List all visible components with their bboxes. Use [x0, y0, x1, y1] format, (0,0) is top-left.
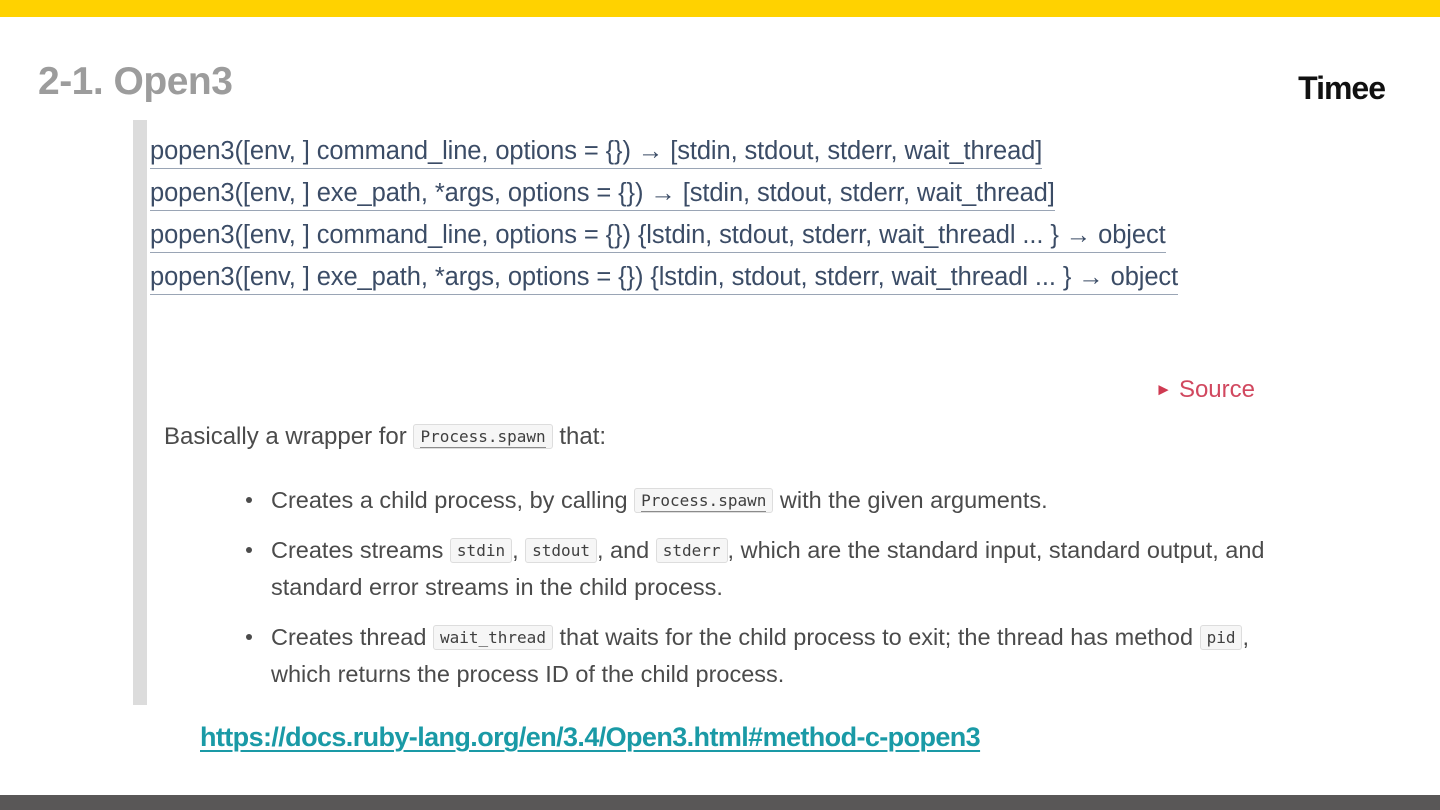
- source-toggle-label: Source: [1179, 376, 1255, 403]
- slide-top-accent-bar: [0, 0, 1440, 17]
- method-signature-text: popen3([env, ] exe_path, *args, options …: [150, 179, 1055, 211]
- doc-left-gutter: [133, 120, 147, 705]
- wrapper-description-before: Basically a wrapper for: [164, 423, 407, 450]
- doc-content: popen3([env, ] command_line, options = {…: [150, 120, 1283, 705]
- method-signature-text: popen3([env, ] command_line, options = {…: [150, 221, 1166, 253]
- bullet-dot-icon: [246, 497, 252, 503]
- embedded-doc-screenshot: popen3([env, ] command_line, options = {…: [133, 120, 1283, 705]
- bullet-dot-icon: [246, 547, 252, 553]
- list-item-text: with the given arguments.: [773, 487, 1047, 513]
- code-chip-process-spawn[interactable]: Process.spawn: [634, 488, 773, 513]
- list-item: Creates thread wait_thread that waits fo…: [164, 619, 1274, 693]
- code-chip-process-spawn[interactable]: Process.spawn: [413, 424, 552, 449]
- method-signature-text: popen3([env, ] exe_path, *args, options …: [150, 263, 1178, 295]
- method-signature-text: popen3([env, ] command_line, options = {…: [150, 137, 1042, 169]
- method-signature[interactable]: popen3([env, ] command_line, options = {…: [150, 214, 1270, 256]
- code-chip-label: Process.spawn: [420, 427, 545, 448]
- list-item-text: Creates streams: [271, 537, 450, 563]
- list-item-text: that waits for the child process to exit…: [553, 624, 1200, 650]
- behaviour-list: Creates a child process, by calling Proc…: [164, 482, 1274, 693]
- list-item-text: Creates thread: [271, 624, 433, 650]
- list-item-text: , and: [597, 537, 656, 563]
- list-item-text: ,: [512, 537, 525, 563]
- wrapper-description: Basically a wrapper for Process.spawn th…: [164, 420, 1274, 454]
- wrapper-description-after: that:: [559, 423, 606, 450]
- bullet-dot-icon: [246, 634, 252, 640]
- code-chip-stdin: stdin: [450, 538, 512, 563]
- play-triangle-icon: ►: [1155, 380, 1172, 399]
- code-chip-stderr: stderr: [656, 538, 728, 563]
- list-item-text: Creates a child process, by calling: [271, 487, 634, 513]
- code-chip-wait-thread: wait_thread: [433, 625, 553, 650]
- list-item: Creates streams stdin, stdout, and stder…: [164, 532, 1274, 606]
- method-signature[interactable]: popen3([env, ] exe_path, *args, options …: [150, 256, 1270, 298]
- method-signature[interactable]: popen3([env, ] exe_path, *args, options …: [150, 172, 1270, 214]
- code-chip-stdout: stdout: [525, 538, 597, 563]
- code-chip-label: Process.spawn: [641, 491, 766, 512]
- source-toggle-button[interactable]: ►Source: [1155, 378, 1255, 402]
- method-signature-list: popen3([env, ] command_line, options = {…: [150, 130, 1270, 298]
- slide-bottom-bar: [0, 795, 1440, 810]
- list-item: Creates a child process, by calling Proc…: [164, 482, 1274, 519]
- brand-logo: Timee: [1298, 72, 1385, 104]
- code-chip-pid: pid: [1200, 625, 1243, 650]
- doc-prose: Basically a wrapper for Process.spawn th…: [164, 420, 1274, 706]
- method-signature[interactable]: popen3([env, ] command_line, options = {…: [150, 130, 1270, 172]
- page-title: 2-1. Open3: [38, 62, 232, 101]
- reference-url-link[interactable]: https://docs.ruby-lang.org/en/3.4/Open3.…: [200, 722, 980, 753]
